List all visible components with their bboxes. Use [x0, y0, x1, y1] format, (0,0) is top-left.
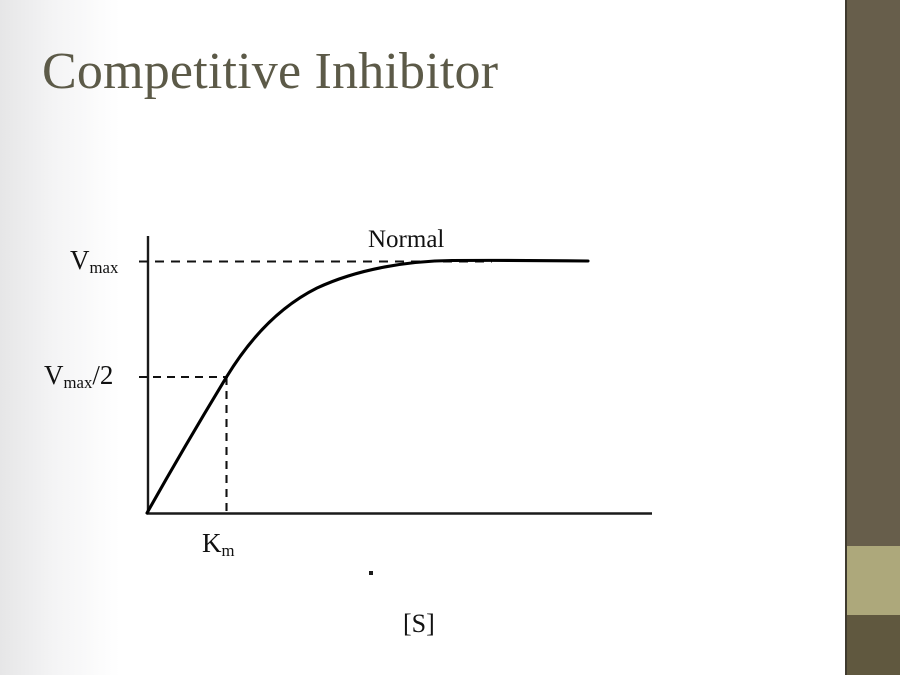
vmax-subscript: max	[90, 258, 119, 277]
half-vmax-symbol: V	[44, 360, 64, 390]
x-axis-title: [S]	[403, 609, 435, 639]
y-axis-label-half-vmax: Vmax/2	[44, 360, 113, 391]
half-vmax-suffix: /2	[92, 360, 113, 390]
y-axis-label-vmax: Vmax	[70, 245, 118, 276]
michaelis-menten-chart: Vmax Vmax/2 Km Normal [S]	[0, 0, 900, 675]
curve-label-normal: Normal	[368, 226, 444, 254]
half-vmax-subscript: max	[64, 373, 93, 392]
stray-dot-artifact	[369, 571, 373, 575]
chart-svg	[0, 0, 900, 675]
km-subscript: m	[222, 541, 235, 560]
km-symbol: K	[202, 528, 222, 558]
vmax-symbol: V	[70, 245, 90, 275]
slide: Competitive Inhibitor Vmax Vmax/2 Km	[0, 0, 900, 675]
normal-curve	[147, 260, 588, 513]
x-axis-tick-label-km: Km	[202, 528, 235, 559]
